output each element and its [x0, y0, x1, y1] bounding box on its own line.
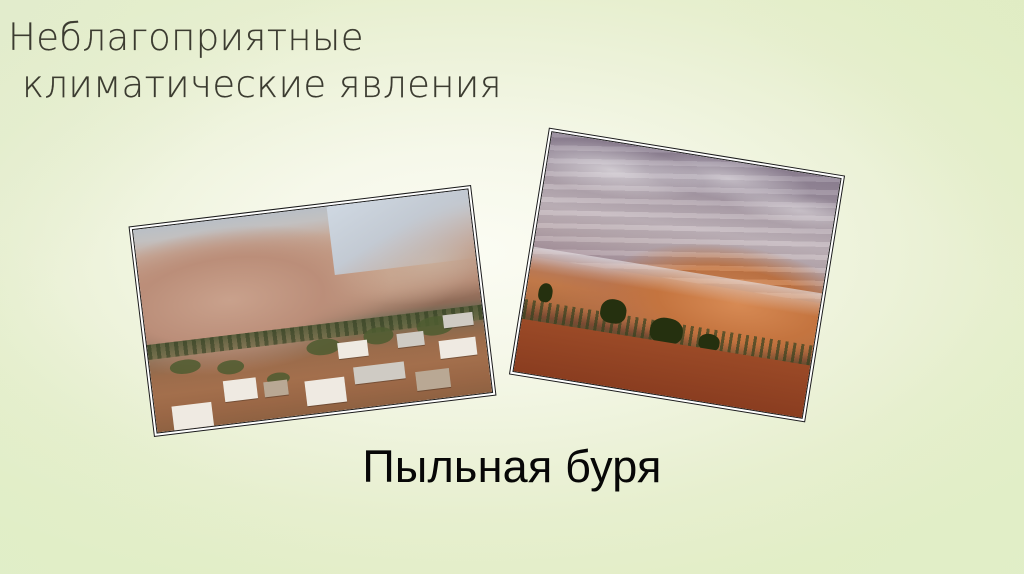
building	[438, 337, 477, 360]
page-title: Неблагоприятные климатические явления	[8, 14, 728, 109]
photo-image-right	[514, 132, 841, 418]
building	[442, 312, 474, 328]
page-title-line-1: Неблагоприятные	[8, 14, 728, 61]
page-title-line-2: климатические явления	[22, 61, 728, 108]
building	[263, 380, 288, 397]
vegetation-clump	[217, 358, 245, 375]
building	[223, 377, 259, 401]
photo-dust-storm-over-town[interactable]	[129, 185, 497, 437]
building	[304, 377, 347, 406]
building	[353, 362, 405, 384]
sky-region	[327, 189, 476, 275]
photo-frame-inner-left	[132, 188, 493, 433]
photo-dust-storm-over-scrubland[interactable]	[509, 128, 845, 423]
vegetation-clump	[169, 358, 201, 376]
building	[415, 369, 451, 391]
photo-frame-inner-right	[512, 131, 841, 419]
building	[397, 330, 425, 347]
photo-image-left	[133, 189, 492, 432]
building	[337, 339, 369, 359]
slide-canvas: Неблагоприятные климатические явления	[0, 0, 1024, 574]
bush	[537, 282, 555, 303]
caption-text: Пыльная буря	[0, 441, 1024, 493]
building	[171, 401, 214, 430]
